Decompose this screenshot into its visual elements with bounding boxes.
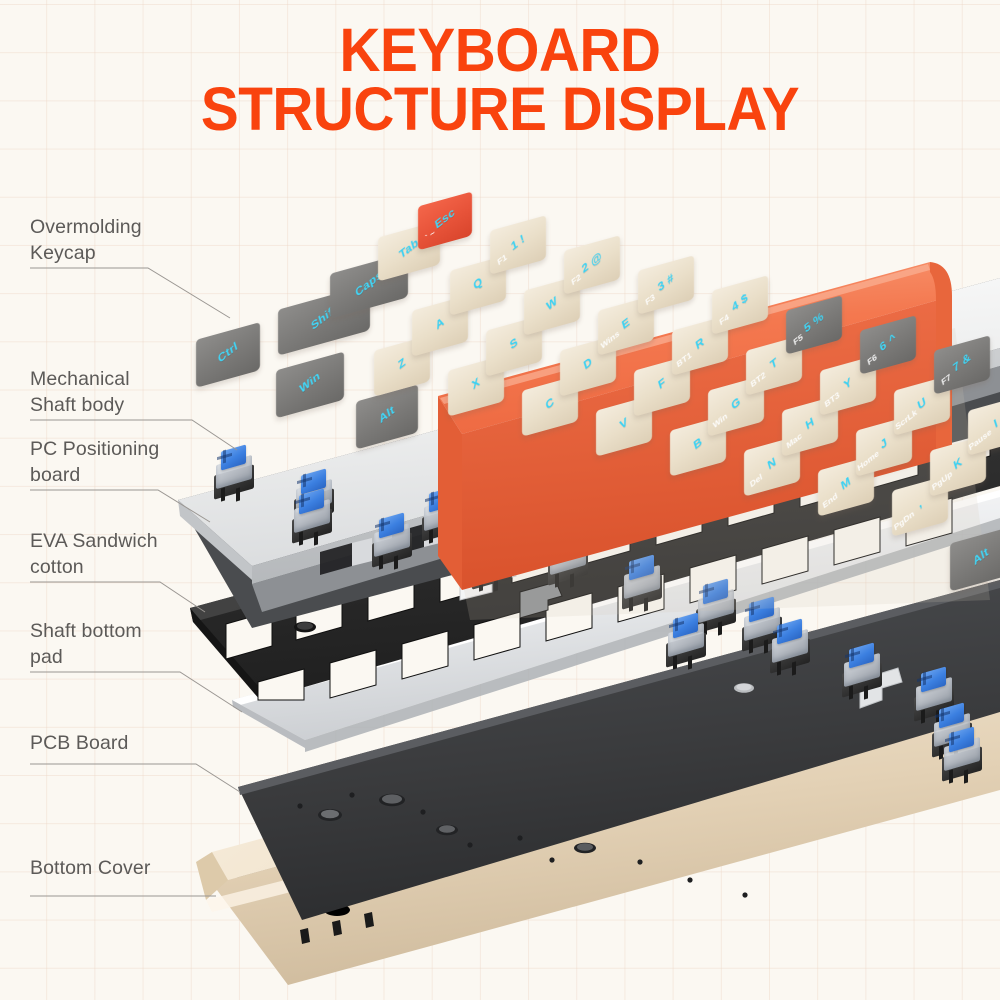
keycap-sublegend: Win xyxy=(712,411,728,431)
keycap-7-[interactable]: 7 &F7 xyxy=(934,335,990,395)
keycap-legend: U xyxy=(916,395,927,412)
keycap-legend: C xyxy=(544,396,555,413)
callout-bottom-cover: Bottom Cover xyxy=(30,855,150,881)
keycap-alt[interactable]: Alt xyxy=(950,526,1000,591)
keycap-sublegend: F7 xyxy=(941,371,953,387)
keycap-alt[interactable]: Alt xyxy=(356,384,418,449)
callout-shaft-bottom-pad: Shaft bottom pad xyxy=(30,618,142,670)
keycap-legend: H xyxy=(804,416,815,433)
keycap-legend: 4 $ xyxy=(731,292,749,315)
keycap-sublegend: Del xyxy=(749,471,763,489)
keycap-esc[interactable]: Esc` ~ xyxy=(418,192,472,251)
keycap-legend: Alt xyxy=(972,546,990,568)
keycap-legend: 2 @ xyxy=(581,250,604,276)
keycap-sublegend: PgDn xyxy=(893,508,915,532)
keycap-legend: 3 # xyxy=(657,272,675,295)
keycap-legend: Tab xyxy=(398,237,420,262)
keycap-legend: M xyxy=(840,475,852,493)
keycap-legend: Win xyxy=(299,370,322,396)
keycap-legend: S xyxy=(509,336,519,352)
keycap-legend: Q xyxy=(472,275,484,292)
keycap-3-[interactable]: 3 #F3 xyxy=(638,255,694,315)
keycap-legend: 7 & xyxy=(952,351,972,375)
keycap-legend: Y xyxy=(843,375,853,391)
callout-pc-positioning: PC Positioning board xyxy=(30,436,159,488)
keycap-sublegend: Home xyxy=(857,448,881,473)
keycap-legend: B xyxy=(692,436,703,453)
callout-overmolding-keycap: Overmolding Keycap xyxy=(30,214,142,266)
keycap-legend: X xyxy=(471,376,481,392)
keycap-legend: Esc xyxy=(434,206,456,232)
keycap-sublegend: Wins xyxy=(600,328,621,351)
keycap-sublegend: BT1 xyxy=(676,350,693,370)
keycap-legend: A xyxy=(434,316,445,333)
keycap-sublegend: BT2 xyxy=(750,370,767,390)
keycap-ctrl[interactable]: Ctrl xyxy=(196,322,260,388)
title-line-2: STRUCTURE DISPLAY xyxy=(35,81,965,137)
exploded-diagram: Esc` ~TabCapsShiftCtrlWinAlt1 !F12 @F23 … xyxy=(0,0,1000,1000)
layer-keycaps: Esc` ~TabCapsShiftCtrlWinAlt1 !F12 @F23 … xyxy=(150,185,1000,605)
keycap-sublegend: F6 xyxy=(867,351,879,367)
keycap-legend: R xyxy=(694,335,705,352)
keycap-legend: N xyxy=(766,456,777,473)
keycap-6-[interactable]: 6 ^F6 xyxy=(860,315,916,375)
keycap-legend: K xyxy=(952,456,963,473)
keycap-sublegend: F1 xyxy=(497,251,509,267)
callout-pcb-board: PCB Board xyxy=(30,730,128,756)
keycap-sublegend: F5 xyxy=(793,331,805,347)
keycap-legend: D xyxy=(582,356,593,373)
keycap-sublegend: ` ~ xyxy=(424,227,436,243)
keycap-sublegend: PgUp xyxy=(931,468,953,492)
keycap-1-[interactable]: 1 !F1 xyxy=(490,215,546,275)
keycap-legend: 6 ^ xyxy=(879,332,898,355)
keycap-legend: 1 ! xyxy=(510,233,526,254)
keycap-win[interactable]: Win xyxy=(276,352,344,419)
keycap-legend: T xyxy=(769,356,779,372)
keycap-legend: J xyxy=(879,436,888,452)
keycap-legend: , xyxy=(917,498,923,511)
keycap-legend: Alt xyxy=(378,404,396,426)
keycap-legend: F xyxy=(657,376,667,392)
keycap-legend: Z xyxy=(397,356,407,372)
keycap-legend: I xyxy=(993,417,999,430)
keycap-sublegend: F3 xyxy=(645,291,657,307)
keycap-legend: Ctrl xyxy=(217,340,239,366)
keycap-4-[interactable]: 4 $F4 xyxy=(712,275,768,335)
keycap-sublegend: F4 xyxy=(719,311,731,327)
callout-eva-sandwich: EVA Sandwich cotton xyxy=(30,528,158,580)
keycap-legend: 5 % xyxy=(803,311,825,336)
keycap-legend: W xyxy=(545,294,558,313)
keycap-sublegend: Mac xyxy=(786,430,803,450)
keycap-sublegend: End xyxy=(822,490,839,510)
keycap-sublegend: Pause xyxy=(968,427,993,453)
callout-mechanical-shaft: Mechanical Shaft body xyxy=(30,366,130,418)
keycap-legend: E xyxy=(621,315,631,331)
keycap-2-[interactable]: 2 @F2 xyxy=(564,235,620,295)
keycap-5-[interactable]: 5 %F5 xyxy=(786,295,842,355)
keycap-i[interactable]: IPause xyxy=(968,395,1000,456)
keycap-legend: V xyxy=(619,416,629,432)
keycap-sublegend: ScrLk xyxy=(895,407,919,432)
page-title: KEYBOARD STRUCTURE DISPLAY xyxy=(0,22,1000,137)
keycap-sublegend: BT3 xyxy=(824,390,841,410)
keycap-sublegend: F2 xyxy=(571,271,583,287)
title-line-1: KEYBOARD xyxy=(35,22,965,78)
keycap-legend: G xyxy=(730,396,742,413)
